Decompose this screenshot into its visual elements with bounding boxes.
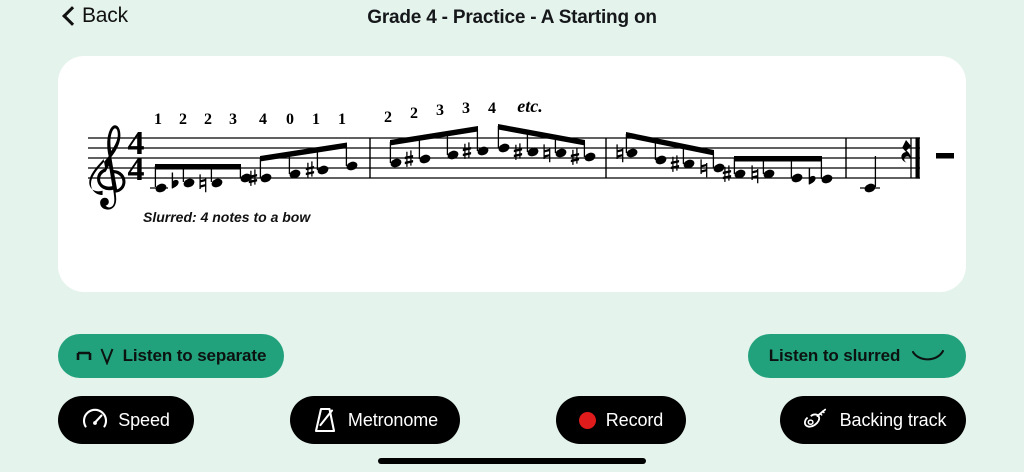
metronome-label: Metronome [348,410,438,431]
bowing-icons [76,347,114,365]
fingering-number: 1 [338,111,346,128]
record-dot-icon [579,412,596,429]
down-bow-icon [76,348,92,364]
slur-arc-icon [911,348,945,364]
time-signature: 4 4 [128,125,145,188]
etc-label: etc. [517,96,542,116]
fingering-number: 2 [179,111,187,128]
time-signature-denominator: 4 [128,151,145,188]
record-button[interactable]: Record [556,396,686,444]
home-indicator [378,458,646,464]
metronome-button[interactable]: Metronome [290,396,460,444]
guitar-icon [800,407,830,433]
listen-to-separate-button[interactable]: Listen to separate [58,334,284,378]
fingering-number: 4 [488,100,496,117]
fingering-number: 3 [229,111,237,128]
listen-to-slurred-button[interactable]: Listen to slurred [748,334,966,378]
measure-2 [389,124,596,169]
fingering-number: 3 [436,102,444,119]
music-notation: 4 4 1 2 2 3 4 0 1 1 2 2 3 3 4 etc. [58,56,966,292]
fingering-number: 1 [312,111,320,128]
quarter-rest [901,140,911,163]
listen-to-separate-label: Listen to separate [123,346,267,366]
fingering-row-measure-1: 1 2 2 3 4 0 1 1 [154,111,346,128]
backing-track-button[interactable]: Backing track [780,396,966,444]
up-bow-icon [100,347,114,365]
fingering-number: 2 [384,109,392,126]
record-label: Record [606,410,663,431]
fingering-number: 2 [410,105,418,122]
listen-to-slurred-label: Listen to slurred [769,346,901,366]
speedometer-icon [82,407,108,433]
fingering-number: 1 [154,111,162,128]
score-card[interactable]: 4 4 1 2 2 3 4 0 1 1 2 2 3 3 4 etc. [58,56,966,292]
speed-button[interactable]: Speed [58,396,194,444]
fingering-number: 4 [259,111,267,128]
backing-track-label: Backing track [840,410,947,431]
half-rest [936,153,954,159]
fingering-number: 2 [204,111,212,128]
fingering-row-measure-2: 2 2 3 3 4 [384,100,496,126]
score-caption: Slurred: 4 notes to a bow [143,209,311,225]
metronome-icon [312,406,338,434]
speed-label: Speed [118,410,170,431]
fingering-number: 3 [462,100,470,117]
app-header: Back Grade 4 - Practice - A Starting on [0,0,1024,46]
page-title: Grade 4 - Practice - A Starting on [0,7,1024,29]
fingering-number: 0 [286,111,294,128]
